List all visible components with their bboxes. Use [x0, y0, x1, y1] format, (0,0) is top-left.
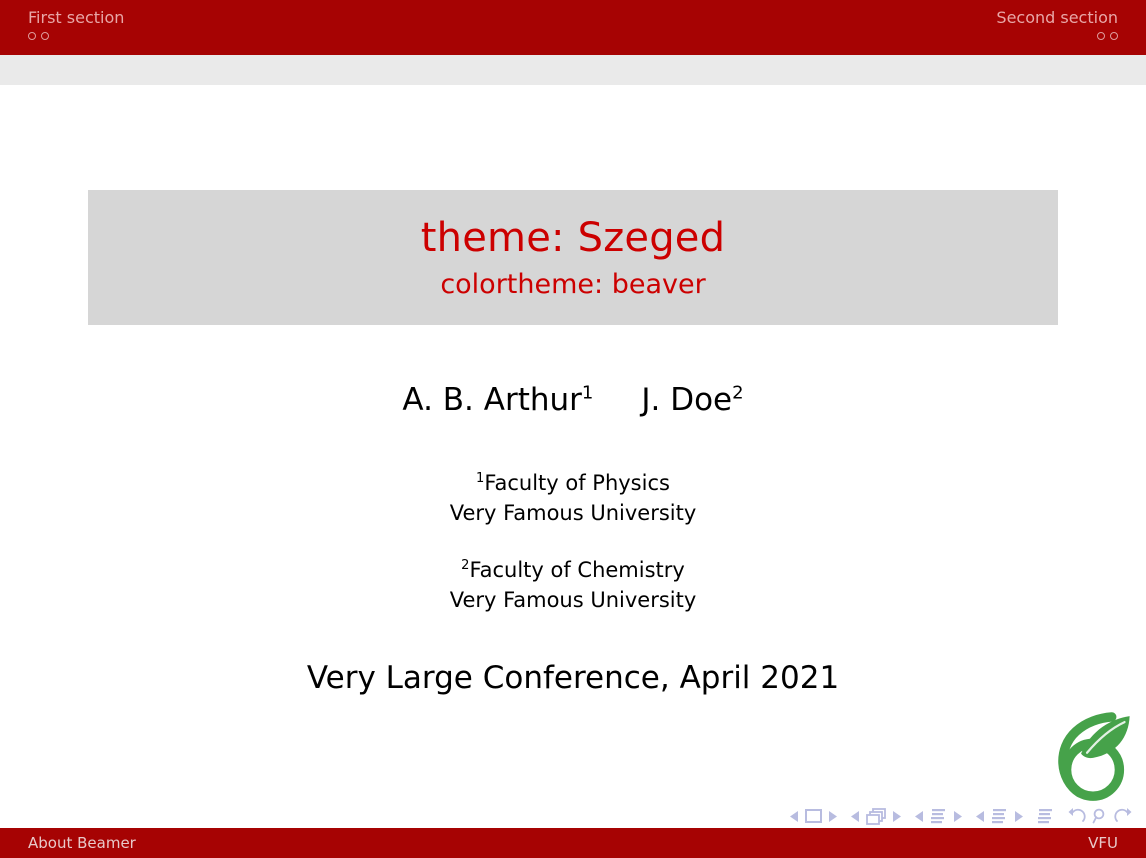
presentation-navigation-group[interactable]	[1037, 808, 1054, 825]
frames-icon[interactable]	[866, 808, 886, 825]
affiliation-institution: Very Famous University	[0, 498, 1146, 528]
affiliation-institution: Very Famous University	[0, 585, 1146, 615]
affiliation-department-line: 2Faculty of Chemistry	[0, 555, 1146, 585]
author-affiliation-marker: 2	[732, 383, 743, 404]
slide-dot-icon[interactable]	[28, 32, 36, 40]
page-subtitle: colortheme: beaver	[440, 270, 705, 300]
section-title-second: Second section	[996, 9, 1118, 27]
conference-date: Very Large Conference, April 2021	[0, 660, 1146, 696]
beamer-slide: First section Second section theme: Szeg…	[0, 0, 1146, 858]
triangle-left-icon[interactable]	[976, 811, 985, 822]
author-entry: J. Doe2	[641, 382, 743, 418]
section-dots-second	[996, 30, 1118, 42]
section-icon[interactable]	[991, 808, 1008, 825]
author-list: A. B. Arthur1J. Doe2	[0, 382, 1146, 418]
headline-subbar	[0, 55, 1146, 85]
subsection-navigation-group[interactable]	[915, 808, 962, 825]
author-name: A. B. Arthur	[402, 382, 582, 418]
triangle-left-icon[interactable]	[790, 811, 799, 822]
author-affiliation-marker: 1	[582, 383, 593, 404]
beamer-navigation-symbols[interactable]	[790, 805, 1132, 827]
headline-navigation-bar: First section Second section	[0, 0, 1146, 55]
footline-institute: VFU	[1088, 834, 1118, 852]
footline-bar: About Beamer VFU	[0, 828, 1146, 858]
search-icon[interactable]	[1092, 808, 1108, 824]
author-name: J. Doe	[641, 382, 732, 418]
affiliation-department: Faculty of Chemistry	[469, 558, 684, 582]
section-dots-first	[28, 30, 124, 42]
affiliation-entry: 2Faculty of Chemistry Very Famous Univer…	[0, 555, 1146, 615]
back-icon[interactable]	[1068, 808, 1086, 824]
slide-dot-icon[interactable]	[1097, 32, 1105, 40]
frame-navigation-group[interactable]	[851, 808, 901, 825]
affiliation-list: 1Faculty of Physics Very Famous Universi…	[0, 468, 1146, 615]
triangle-right-icon[interactable]	[1014, 811, 1023, 822]
affiliation-entry: 1Faculty of Physics Very Famous Universi…	[0, 468, 1146, 528]
triangle-left-icon[interactable]	[851, 811, 860, 822]
overleaf-logo-icon	[1050, 711, 1136, 803]
triangle-right-icon[interactable]	[892, 811, 901, 822]
footline-title: About Beamer	[28, 834, 136, 852]
slide-dot-icon[interactable]	[41, 32, 49, 40]
affiliation-department: Faculty of Physics	[484, 471, 670, 495]
title-block: theme: Szeged colortheme: beaver	[88, 190, 1058, 325]
affiliation-department-line: 1Faculty of Physics	[0, 468, 1146, 498]
section-navigation-group[interactable]	[976, 808, 1023, 825]
section-title-first: First section	[28, 9, 124, 27]
slide-navigation-group[interactable]	[790, 809, 837, 823]
presentation-icon[interactable]	[1037, 808, 1054, 825]
forward-icon[interactable]	[1114, 808, 1132, 824]
page-title: theme: Szeged	[421, 216, 725, 260]
section-entry-first[interactable]: First section	[28, 9, 124, 42]
triangle-left-icon[interactable]	[915, 811, 924, 822]
slide-icon[interactable]	[805, 809, 822, 823]
subsection-icon[interactable]	[930, 808, 947, 825]
author-entry: A. B. Arthur1	[402, 382, 593, 418]
slide-dot-icon[interactable]	[1110, 32, 1118, 40]
triangle-right-icon[interactable]	[953, 811, 962, 822]
triangle-right-icon[interactable]	[828, 811, 837, 822]
history-navigation-group[interactable]	[1068, 808, 1132, 824]
section-entry-second[interactable]: Second section	[996, 9, 1118, 42]
